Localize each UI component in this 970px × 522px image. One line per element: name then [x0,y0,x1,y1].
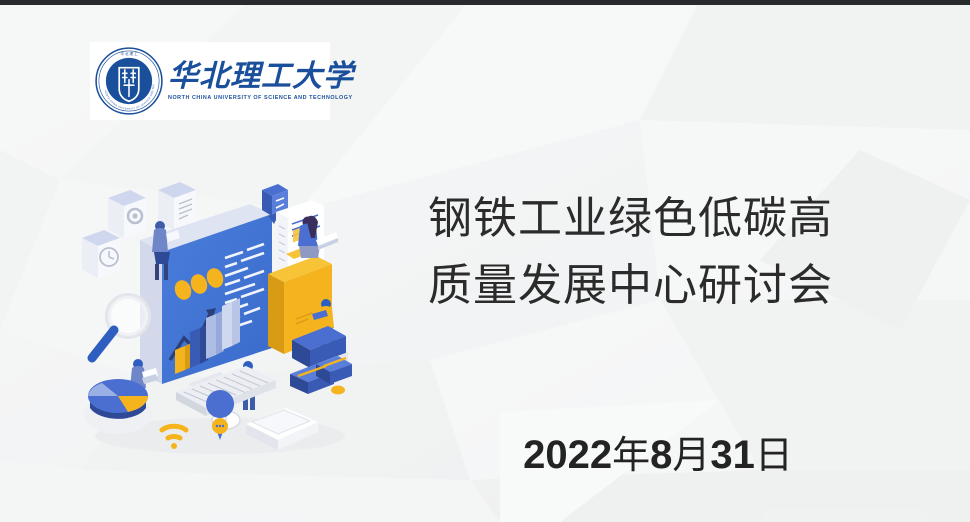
university-logo: 华 北 理 工 NORTH CHINA UNIVERSITY OF SCIENC… [90,42,330,120]
clock-card [82,230,120,278]
svg-text:华 北 理 工: 华 北 理 工 [120,51,138,56]
date-month-unit: 月 [672,435,710,477]
slide-title: 钢铁工业绿色低碳高 质量发展中心研讨会 [428,186,888,320]
presentation-slide: 华 北 理 工 NORTH CHINA UNIVERSITY OF SCIENC… [0,0,970,522]
logo-english-name: NORTH CHINA UNIVERSITY OF SCIENCE AND TE… [168,95,354,101]
magnifier-icon [92,296,148,358]
top-accent-bar [0,0,970,5]
date-day: 31 [710,433,755,477]
slide-date: 2022年8月31日 [428,424,888,479]
logo-chinese-name: 华北理工大学 [168,61,354,93]
isometric-business-illustration [80,168,355,458]
gear-card [108,190,146,238]
date-day-unit: 日 [755,435,793,477]
date-month: 8 [650,433,672,477]
pie-chart [84,379,152,434]
date-year: 2022 [523,433,612,477]
university-seal-icon: 华 北 理 工 NORTH CHINA UNIVERSITY OF SCIENC… [94,46,164,116]
logo-wordmark: 华北理工大学 NORTH CHINA UNIVERSITY OF SCIENCE… [168,61,354,102]
title-line-2: 质量发展中心研讨会 [428,253,888,320]
date-year-unit: 年 [612,435,650,477]
title-line-1: 钢铁工业绿色低碳高 [428,186,888,253]
